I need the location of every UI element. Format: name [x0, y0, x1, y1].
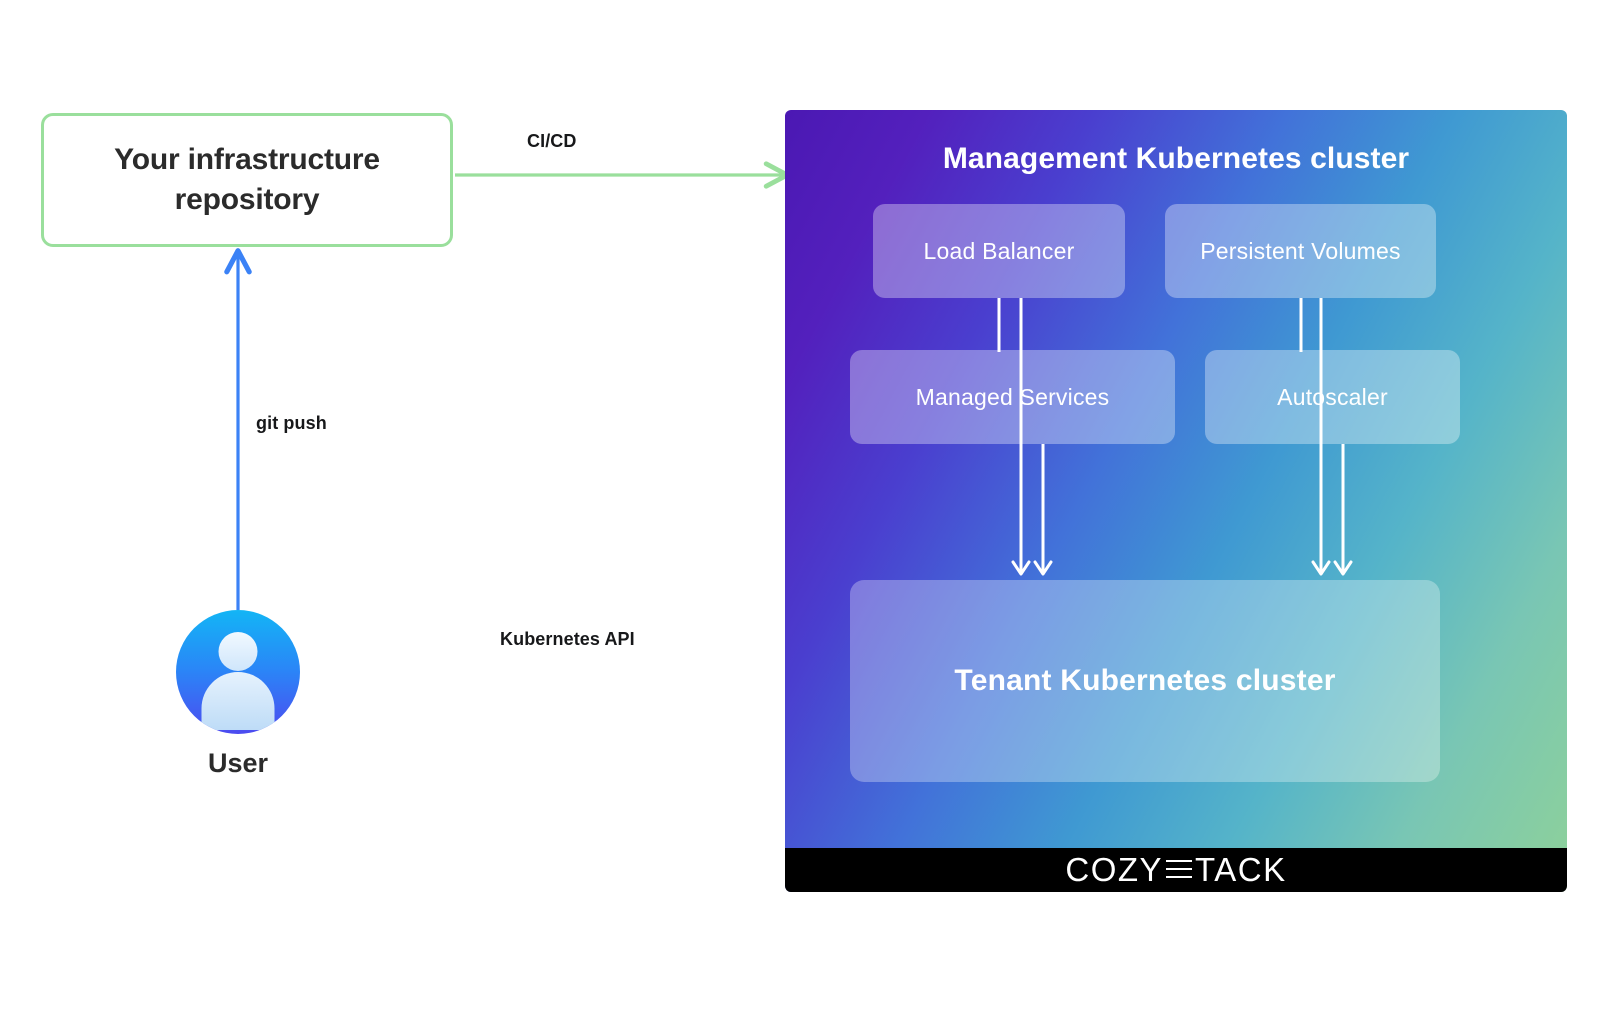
management-cluster-title: Management Kubernetes cluster — [785, 142, 1567, 176]
brand-prefix: COZY — [1065, 851, 1163, 889]
tile-autoscaler-label: Autoscaler — [1277, 384, 1388, 411]
tile-managed-services[interactable]: Managed Services — [850, 350, 1175, 444]
edge-label-kubernetes-api: Kubernetes API — [500, 629, 635, 650]
repository-card[interactable]: Your infrastructure repository — [41, 113, 453, 247]
tile-autoscaler[interactable]: Autoscaler — [1205, 350, 1460, 444]
repository-label: Your infrastructure repository — [44, 140, 450, 221]
management-cluster-panel: Management Kubernetes cluster — [785, 110, 1567, 892]
user-avatar-icon — [176, 610, 300, 734]
user-label: User — [176, 748, 300, 779]
tile-load-balancer-label: Load Balancer — [924, 238, 1075, 265]
edge-label-git-push: git push — [256, 413, 327, 434]
tile-persistent-volumes[interactable]: Persistent Volumes — [1165, 204, 1436, 298]
tile-tenant-cluster[interactable]: Tenant Kubernetes cluster — [850, 580, 1440, 782]
arrow-autoscaler-to-tenant — [1335, 444, 1351, 574]
edge-label-cicd: CI/CD — [527, 131, 577, 152]
triple-bar-s-glyph — [1166, 859, 1192, 881]
avatar-head-shape — [219, 632, 258, 671]
user-node[interactable]: User — [176, 610, 300, 779]
diagram-canvas: Your infrastructure repository CI/CD git… — [0, 0, 1617, 1024]
tile-managed-services-label: Managed Services — [916, 384, 1110, 411]
tenant-cluster-label: Tenant Kubernetes cluster — [954, 664, 1335, 698]
tile-load-balancer[interactable]: Load Balancer — [873, 204, 1125, 298]
brand-footer-bar: COZY TACK — [785, 848, 1567, 892]
cozystack-logo: COZY TACK — [1065, 851, 1286, 889]
arrow-managed-services-to-tenant — [1035, 444, 1051, 574]
tile-persistent-volumes-label: Persistent Volumes — [1200, 238, 1400, 265]
avatar-body-shape — [202, 672, 275, 730]
brand-suffix: TACK — [1195, 851, 1287, 889]
